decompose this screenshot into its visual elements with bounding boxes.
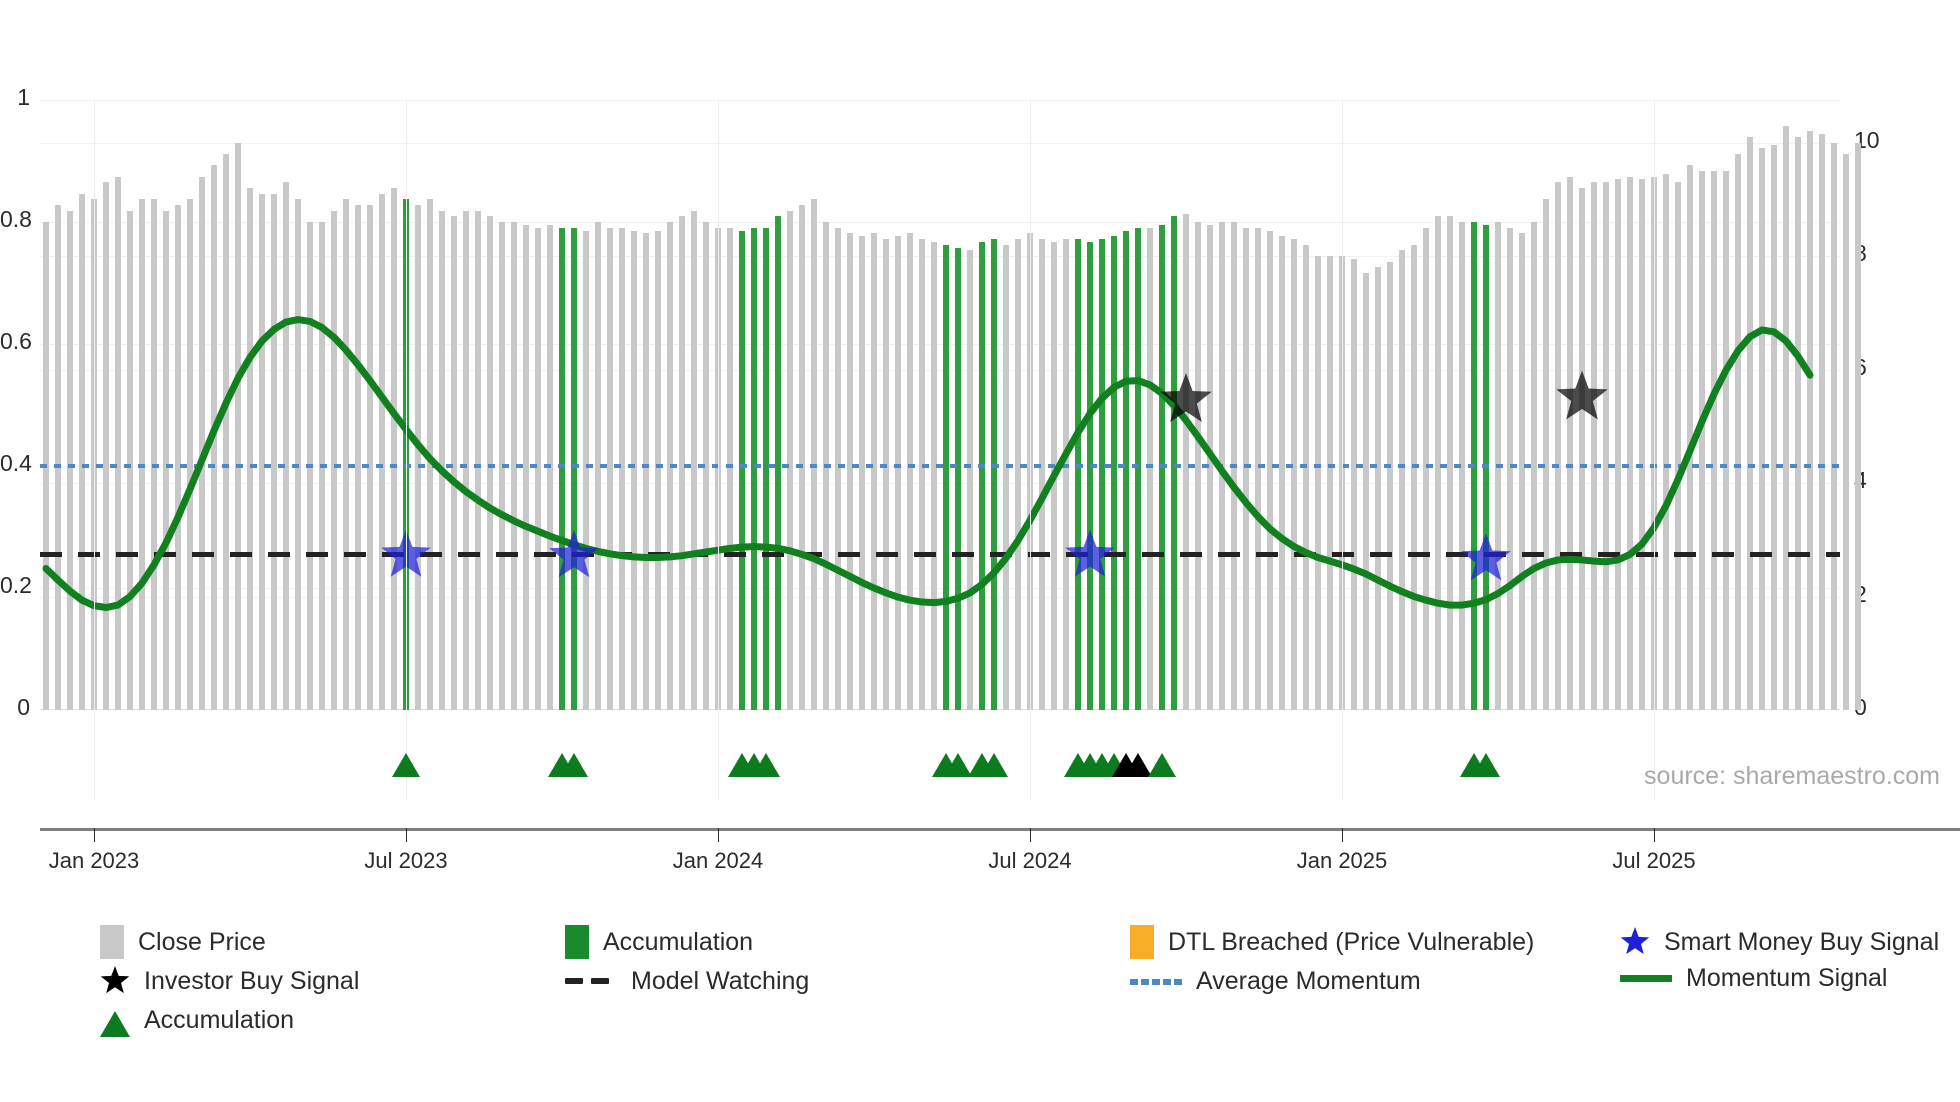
legend-label: DTL Breached (Price Vulnerable) [1168, 928, 1534, 957]
vertical-gridline [406, 100, 407, 800]
y-tick-left: 0 [0, 694, 30, 721]
x-tick-label: Jul 2025 [1612, 848, 1695, 874]
close-price-swatch-icon [100, 925, 124, 959]
y-tick-left: 0.2 [0, 572, 30, 599]
legend-item-smart-money-buy-signal[interactable]: Smart Money Buy Signal [1620, 925, 1939, 959]
legend-item-model-watching[interactable]: Model Watching [565, 964, 809, 998]
investor-buy-star[interactable] [1160, 373, 1211, 422]
close-price-bar [1843, 154, 1850, 710]
plot-area [40, 100, 1840, 710]
x-tick [1654, 828, 1655, 842]
x-tick-label: Jul 2023 [364, 848, 447, 874]
vertical-gridline [1342, 100, 1343, 800]
legend-label: Average Momentum [1196, 967, 1421, 996]
smart-money-buy-star[interactable] [1065, 530, 1114, 577]
x-tick-label: Jul 2024 [988, 848, 1071, 874]
vertical-gridline [1654, 100, 1655, 800]
x-axis-line [40, 828, 1960, 831]
accumulation-triangle [752, 753, 780, 777]
accumulation-triangle [560, 753, 588, 777]
chart-legend: Close PriceAccumulationDTL Breached (Pri… [100, 925, 1940, 1042]
legend-label: Investor Buy Signal [144, 967, 359, 996]
vertical-gridline [718, 100, 719, 800]
investor-buy-signal-star-icon [100, 964, 130, 998]
x-tick [1030, 828, 1031, 842]
y-tick-left: 0.4 [0, 450, 30, 477]
vertical-gridline [94, 100, 95, 800]
y-tick-left: 1 [0, 84, 30, 111]
legend-item-average-momentum[interactable]: Average Momentum [1130, 964, 1421, 998]
x-tick [718, 828, 719, 842]
smart-money-buy-star[interactable] [549, 530, 598, 577]
smart-money-buy-star[interactable] [1461, 533, 1510, 580]
accumulation-bar-swatch-icon [565, 925, 589, 959]
x-tick-label: Jan 2025 [1297, 848, 1388, 874]
legend-item-dtl-breached[interactable]: DTL Breached (Price Vulnerable) [1130, 925, 1534, 959]
y-tick-left: 0.8 [0, 206, 30, 233]
signal-markers [40, 100, 1840, 710]
accumulation-triangle [1472, 753, 1500, 777]
accumulation-triangle-triangle-icon [100, 1003, 130, 1037]
accumulation-marker-strip [40, 735, 1840, 785]
legend-label: Accumulation [603, 928, 753, 957]
legend-label: Accumulation [144, 1006, 294, 1035]
plot-inner [40, 100, 1840, 710]
legend-label: Smart Money Buy Signal [1664, 928, 1939, 957]
legend-label: Momentum Signal [1686, 964, 1887, 993]
smart-money-buy-signal-star-icon [1620, 925, 1650, 959]
source-note: source: sharemaestro.com [1644, 762, 1940, 791]
close-price-bar [1855, 143, 1862, 710]
x-tick [1342, 828, 1343, 842]
vertical-gridline [1030, 100, 1031, 800]
legend-item-accumulation-bar[interactable]: Accumulation [565, 925, 753, 959]
average-momentum-dotted-line-icon [1130, 964, 1182, 998]
accumulation-triangle [392, 753, 420, 777]
legend-item-investor-buy-signal[interactable]: Investor Buy Signal [100, 964, 359, 998]
legend-label: Close Price [138, 928, 266, 957]
x-tick [94, 828, 95, 842]
x-tick-label: Jan 2023 [49, 848, 140, 874]
investor-buy-star[interactable] [1556, 371, 1607, 420]
x-tick-label: Jan 2024 [673, 848, 764, 874]
legend-item-momentum-signal[interactable]: Momentum Signal [1620, 964, 1887, 993]
legend-row: Accumulation [100, 1003, 1940, 1042]
legend-item-accumulation-triangle[interactable]: Accumulation [100, 1003, 294, 1037]
accumulation-triangle [980, 753, 1008, 777]
legend-row: Investor Buy SignalModel WatchingAverage… [100, 964, 1940, 1003]
dtl-breached-swatch-icon [1130, 925, 1154, 959]
model-watching-dashed-line-icon [565, 964, 617, 998]
legend-item-close-price[interactable]: Close Price [100, 925, 266, 959]
y-tick-left: 0.6 [0, 328, 30, 355]
chart-root: 00.20.40.60.81 0246810 Jan 2023Jul 2023J… [0, 0, 1960, 1102]
momentum-signal-line-icon [1620, 975, 1672, 982]
legend-label: Model Watching [631, 967, 809, 996]
x-tick [406, 828, 407, 842]
legend-row: Close PriceAccumulationDTL Breached (Pri… [100, 925, 1940, 964]
accumulation-triangle [1148, 753, 1176, 777]
